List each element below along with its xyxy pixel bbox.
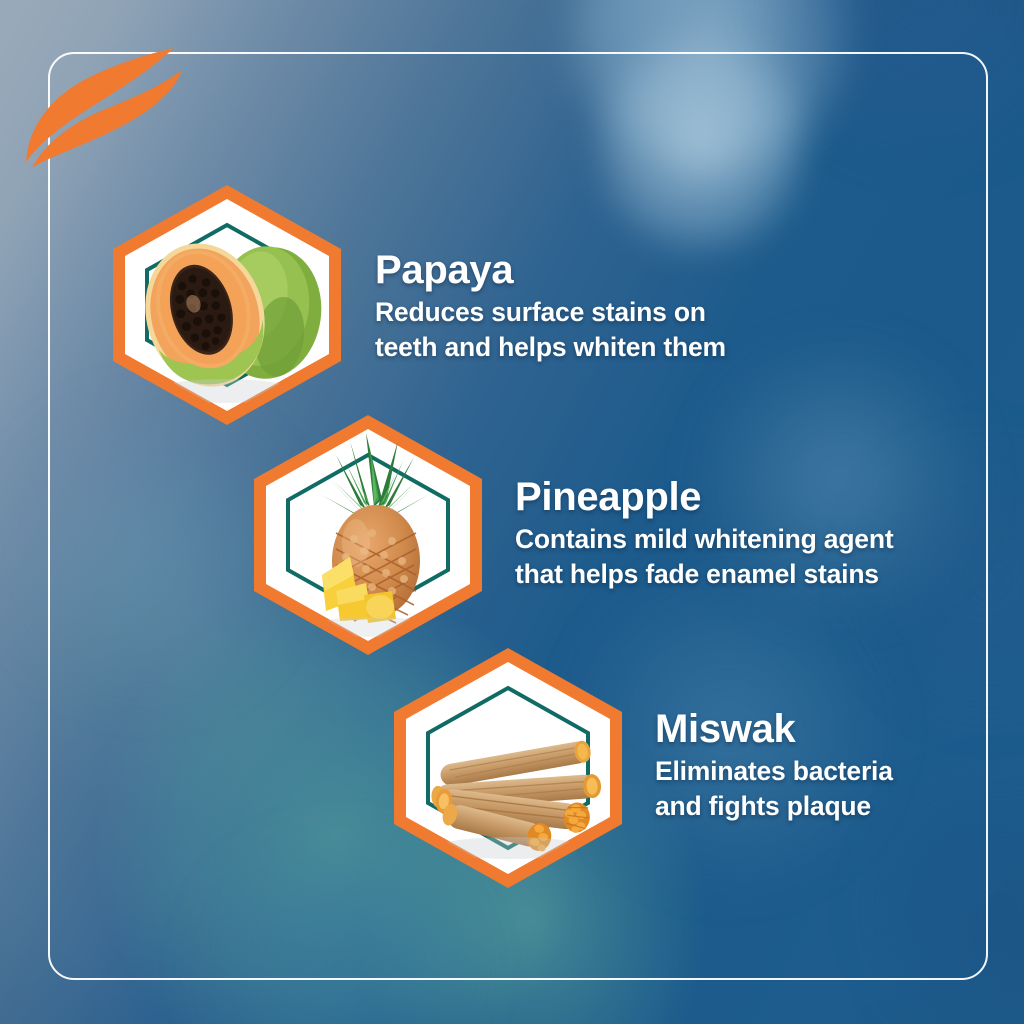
ingredient-title: Papaya [375, 247, 726, 293]
description-line: Eliminates bacteria [655, 754, 893, 789]
ingredient-description: Reduces surface stains on teeth and help… [375, 295, 726, 365]
ingredient-title: Pineapple [515, 474, 893, 520]
ingredient-description: Eliminates bacteria and fights plaque [655, 754, 893, 824]
ingredient-badge-miswak[interactable] [386, 648, 630, 888]
ingredient-badge-pineapple[interactable] [246, 415, 490, 655]
ingredient-text-pineapple: Pineapple Contains mild whitening agent … [515, 474, 893, 592]
description-line: and fights plaque [655, 789, 893, 824]
ingredient-text-miswak: Miswak Eliminates bacteria and fights pl… [655, 706, 893, 824]
ingredient-badge-papaya[interactable] [105, 185, 349, 425]
description-line: Reduces surface stains on [375, 295, 726, 330]
description-line: Contains mild whitening agent [515, 522, 893, 557]
description-line: that helps fade enamel stains [515, 557, 893, 592]
ingredient-text-papaya: Papaya Reduces surface stains on teeth a… [375, 247, 726, 365]
ingredient-description: Contains mild whitening agent that helps… [515, 522, 893, 592]
description-line: teeth and helps whiten them [375, 330, 726, 365]
orange-flame-ribbon [22, 40, 222, 170]
ingredient-benefits-poster: Papaya Reduces surface stains on teeth a… [0, 0, 1024, 1024]
ingredient-title: Miswak [655, 706, 893, 752]
